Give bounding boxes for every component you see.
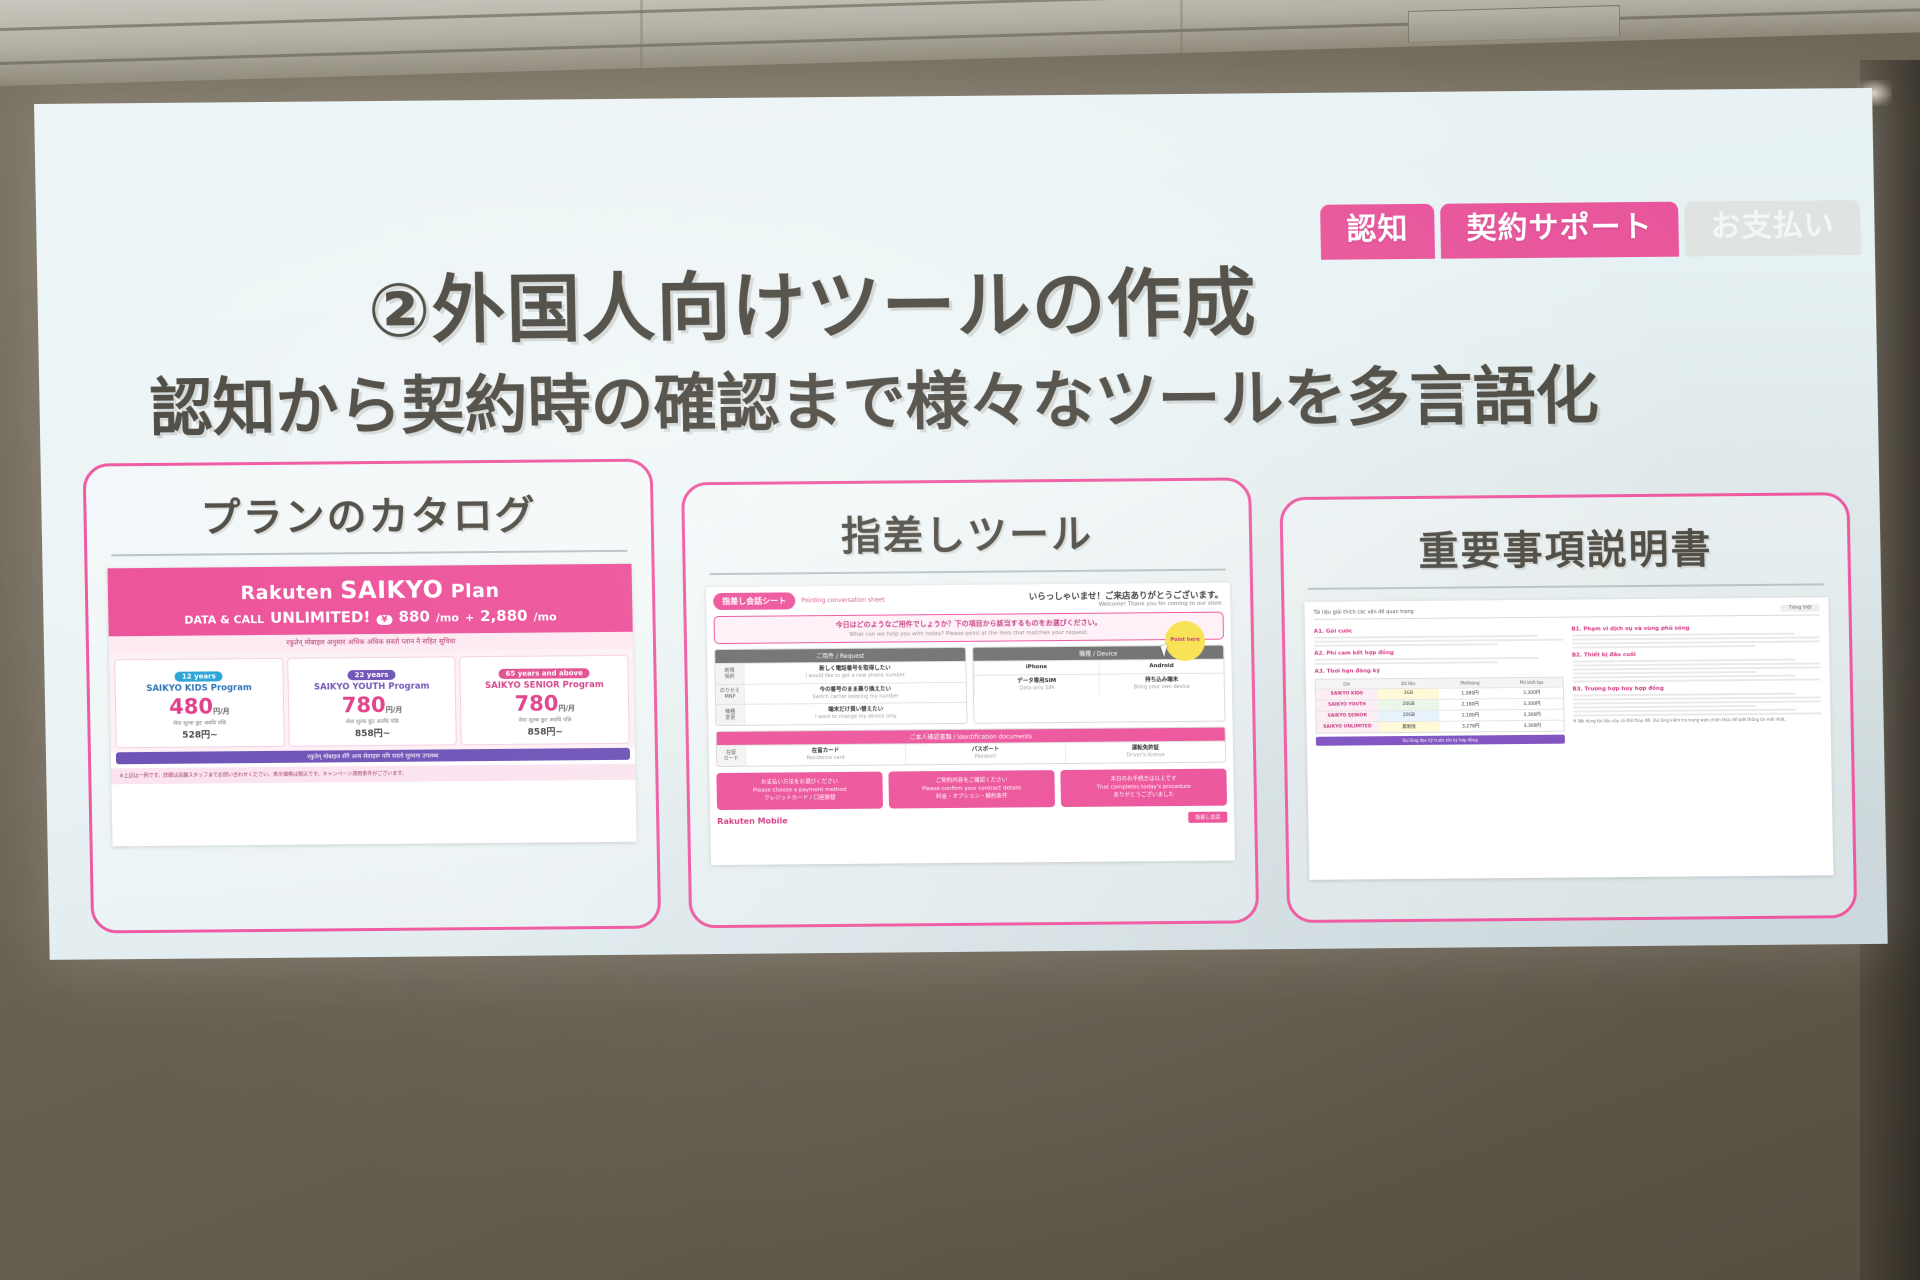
- plan-price-unit: 円/月: [386, 705, 403, 713]
- doc-text-line: [1572, 678, 1821, 682]
- doc-title: Tài liệu giải thích các vấn đề quan trọn…: [1313, 608, 1413, 615]
- brand-prefix: Rakuten: [240, 581, 333, 604]
- plan-age-badge: 22 years: [348, 670, 396, 680]
- point-here-callout: Point here: [1165, 621, 1206, 661]
- table-row[interactable]: SAIKYO YOUTH 20GB 2,180円 3,300円: [1316, 698, 1563, 711]
- row-label: 在留 カード: [717, 746, 745, 766]
- table-cell: 2,180円: [1439, 699, 1501, 710]
- rakuten-logo: Rakuten Mobile: [717, 817, 788, 827]
- table-row[interactable]: SAIKYO UNLIMITED 無制限 3,278円 3,300円: [1317, 720, 1564, 733]
- page-chip: 指差し会話: [1188, 812, 1227, 823]
- plan-strike-price: 858円~: [465, 723, 626, 737]
- price-1: 880: [398, 608, 430, 626]
- doc-section-heading: A2. Phí cam kết hợp đồng: [1314, 649, 1563, 657]
- plan-strike-price: 528円~: [119, 727, 280, 741]
- price-2-unit: /mo: [533, 610, 556, 623]
- doc-text-line: [1572, 666, 1821, 670]
- cell-translation: Passport: [910, 753, 1061, 761]
- doc-text-line: [1314, 661, 1498, 665]
- doc-section-heading: B2. Thiết bị đầu cuối: [1572, 650, 1821, 658]
- headline-main: UNLIMITED!: [270, 608, 370, 627]
- doc-column-right: B1. Phạm vi dịch vụ và vùng phủ sóng B2.…: [1571, 620, 1822, 743]
- table-cell: SAIKYO KIDS: [1316, 689, 1378, 700]
- table-cell: 2,180円: [1440, 710, 1502, 721]
- table-header-cell: Phí khởi tạo: [1501, 678, 1563, 688]
- projection-screen: 認知 契約サポート お支払い ②外国人向けツールの作成 認知から契約時の確認まで…: [34, 88, 1888, 960]
- table-cell: 3,300円: [1501, 721, 1563, 732]
- row-cell: パスポート Passport: [905, 743, 1065, 764]
- sheet-footer: Rakuten Mobile 指差し会話: [717, 812, 1227, 827]
- cell-translation: Residence card: [750, 754, 901, 762]
- cell-jp: iPhone: [978, 664, 1094, 672]
- identification-table[interactable]: ご本人確認書類 / Identification documents 在留 カー…: [716, 727, 1227, 767]
- plan-age-badge: 12 years: [175, 671, 223, 681]
- row-cell: 端末だけ買い替えたい I want to change my device on…: [744, 703, 966, 725]
- ceiling-vent: [1408, 5, 1620, 43]
- flyer-header: Rakuten SAIKYO Plan DATA & CALL UNLIMITE…: [108, 564, 633, 637]
- phase-badge-awareness[interactable]: 認知: [1320, 204, 1435, 259]
- row-cell: 運転免許証 Driver's license: [1065, 742, 1225, 763]
- doc-text-line: [1314, 643, 1498, 647]
- table-row[interactable]: iPhone Android: [973, 659, 1223, 675]
- table-cell: 無制限: [1378, 722, 1440, 733]
- table-cell: 3,300円: [1501, 699, 1563, 710]
- table-cell: 3GB: [1378, 689, 1440, 700]
- phase-badge-payment[interactable]: お支払い: [1684, 200, 1861, 256]
- doc-text-line: [1314, 639, 1563, 643]
- flyer-headline: DATA & CALL UNLIMITED! ¥ 880 /mo + 2,880…: [108, 606, 632, 629]
- slide-subtitle: 認知から契約時の確認まで様々なツールを多言語化: [149, 345, 1600, 449]
- cell-translation: Driver's license: [1070, 752, 1221, 760]
- table-row[interactable]: 在留 カード 在留カード Residence card パスポート Passpo…: [717, 741, 1225, 766]
- bottom-box[interactable]: お支払い方法をお選びください Please choose a payment m…: [716, 771, 883, 810]
- doc-section-heading: B3. Trường hợp hủy hợp đồng: [1572, 684, 1821, 692]
- row-cell: データ専用SIM Data only SIM: [974, 675, 1099, 696]
- plan-price-unit: 円/月: [213, 707, 230, 715]
- sheet-tables: ご用件 / Request 新規 契約 新しく電話番号を取得したい I woul…: [714, 645, 1225, 726]
- card-title-important-matters: 重要事項説明書: [1303, 509, 1828, 588]
- sheet-top-row: 指差し会話シート Pointing conversation sheet いらっ…: [713, 589, 1223, 611]
- tool-card-pointing-tool[interactable]: 指差しツール 指差し会話シート Pointing conversation sh…: [681, 477, 1259, 928]
- cell-translation: Switch carrier keeping my number: [749, 693, 962, 701]
- plan-age-badge: 65 years and above: [498, 668, 589, 679]
- table-cell: 1,080円: [1439, 688, 1501, 699]
- bottom-box[interactable]: 本日のお手続きは以上です That completes today's proc…: [1060, 768, 1227, 807]
- table-cell: SAIKYO UNLIMITED: [1317, 722, 1379, 733]
- sheet-tag-sub: Pointing conversation sheet: [801, 592, 885, 605]
- sheet-greeting: いらっしゃいませ！ご来店ありがとうございます。 Welcome! Thank y…: [1029, 589, 1224, 609]
- price-yen-1: ¥: [376, 615, 392, 625]
- thumbnail-important-matters[interactable]: Tài liệu giải thích các vấn đề quan trọn…: [1304, 597, 1833, 880]
- doc-section-heading: A1. Gói cước: [1314, 627, 1563, 635]
- request-table[interactable]: ご用件 / Request 新規 契約 新しく電話番号を取得したい I woul…: [714, 647, 967, 726]
- row-label: のりかえ MNP: [716, 684, 744, 704]
- table-header-cell: Phí/tháng: [1439, 678, 1501, 688]
- doc-text-line: [1573, 700, 1822, 704]
- row-cell: 持ち込み端末 Bring your own device: [1099, 674, 1224, 695]
- card-title-plan-catalog: プランのカタログ: [106, 476, 631, 555]
- table-cell: 3,300円: [1501, 710, 1563, 721]
- flyer-brand: Rakuten SAIKYO Plan: [108, 574, 633, 607]
- table-cell: 3,300円: [1501, 688, 1563, 699]
- tool-card-plan-catalog[interactable]: プランのカタログ Rakuten SAIKYO Plan DATA & CALL: [83, 459, 662, 934]
- phase-badge-contract-support[interactable]: 契約サポート: [1440, 202, 1679, 259]
- table-row[interactable]: SAIKYO SENIOR 20GB 2,180円 3,300円: [1316, 709, 1563, 722]
- row-cell: iPhone: [973, 661, 1098, 675]
- price-1-unit: /mo: [436, 611, 459, 624]
- table-row[interactable]: のりかえ MNP 今の番号のまま乗り換えたい Switch carrier ke…: [716, 682, 966, 705]
- sheet-banner: 今日はどのようなご用件でしょうか？下の項目から該当するものをお選びください。 W…: [713, 612, 1224, 644]
- brand-main: SAIKYO: [340, 575, 444, 604]
- table-row[interactable]: データ専用SIM Data only SIM 持ち込み端末 Bring your…: [974, 673, 1224, 696]
- plan-column[interactable]: 22 years SAIKYO YOUTH Program 780円/月 सेव…: [287, 656, 457, 746]
- flyer-plan-columns: 12 years SAIKYO KIDS Program 480円/月 सेवा…: [109, 649, 635, 752]
- table-cell: 3,278円: [1440, 721, 1502, 732]
- plan-column[interactable]: 65 years and above SAIKYO SENIOR Program…: [460, 655, 630, 745]
- doc-text-line: [1572, 640, 1821, 644]
- tool-card-important-matters[interactable]: 重要事項説明書 Tài liệu giải thích các vấn đề q…: [1279, 492, 1857, 923]
- tool-card-group: プランのカタログ Rakuten SAIKYO Plan DATA & CALL: [83, 448, 1858, 933]
- doc-text-line: [1572, 645, 1756, 649]
- slide-surface: 認知 契約サポート お支払い ②外国人向けツールの作成 認知から契約時の確認まで…: [34, 88, 1888, 960]
- thumbnail-plan-catalog[interactable]: Rakuten SAIKYO Plan DATA & CALL UNLIMITE…: [108, 564, 637, 847]
- cell-jp: Android: [1103, 663, 1219, 671]
- flyer-footer-note: ※上記は一例です。詳細は店舗スタッフまでお問い合わせください。表示価格は税込です…: [111, 763, 635, 784]
- doc-section-heading: B1. Phạm vi dịch vụ và vùng phủ sóng: [1571, 624, 1820, 632]
- plan-price: 780円/月: [464, 692, 625, 714]
- doc-text-line: [1573, 705, 1757, 709]
- doc-text-line: [1314, 657, 1538, 661]
- doc-section-heading: A3. Thời hạn đăng ký: [1315, 667, 1564, 675]
- plan-price-value: 780: [342, 692, 386, 716]
- row-cell: Android: [1098, 660, 1223, 674]
- brand-suffix: Plan: [450, 580, 499, 602]
- price-2: 2,880: [480, 607, 528, 625]
- doc-price-table[interactable]: Gói Dữ liệu Phí/tháng Phí khởi tạo SAIKY…: [1315, 677, 1565, 734]
- doc-language-chip: Tiếng Việt: [1781, 604, 1820, 611]
- plan-price-value: 480: [169, 694, 213, 718]
- row-cell: 在留カード Residence card: [745, 744, 905, 765]
- sheet-tag: 指差し会話シート: [713, 592, 795, 610]
- plan-price: 780円/月: [292, 694, 453, 716]
- doc-ribbon: Vui lòng đọc kỹ trước khi ký hợp đồng: [1316, 735, 1565, 746]
- screenshot-root: 認知 契約サポート お支払い ②外国人向けツールの作成 認知から契約時の確認まで…: [0, 0, 1920, 1280]
- table-row[interactable]: 機種 変更 端末だけ買い替えたい I want to change my dev…: [716, 702, 966, 725]
- cell-translation: Bring your own device: [1104, 684, 1220, 692]
- plan-price: 480円/月: [119, 695, 280, 717]
- headline-left: DATA & CALL: [184, 613, 264, 627]
- doc-column-left: A1. Gói cước A2. Phí cam kết hợp đồng A3…: [1314, 623, 1565, 746]
- ceiling-tile-edge: [1180, 0, 1183, 53]
- table-cell: 20GB: [1378, 711, 1440, 722]
- table-row[interactable]: SAIKYO KIDS 3GB 1,080円 3,300円: [1316, 687, 1563, 700]
- thumbnail-pointing-sheet[interactable]: 指差し会話シート Pointing conversation sheet いらっ…: [706, 583, 1235, 866]
- table-cell: SAIKYO SENIOR: [1316, 711, 1378, 722]
- doc-text-line: [1572, 671, 1756, 675]
- bottom-box[interactable]: ご契約内容をご確認ください Please confirm your contra…: [888, 770, 1055, 809]
- row-label: 機種 変更: [716, 705, 744, 725]
- table-cell: 20GB: [1378, 700, 1440, 711]
- plan-price-unit: 円/月: [558, 704, 575, 712]
- doc-footer-note: ※ Nội dung tài liệu này có thể thay đổi.…: [1573, 716, 1822, 724]
- ceiling-tile-edge: [640, 0, 643, 68]
- cell-translation: Data only SIM: [979, 685, 1095, 693]
- table-header-cell: Gói: [1316, 679, 1378, 689]
- plan-strike-price: 858円~: [292, 725, 453, 739]
- table-row[interactable]: 新規 契約 新しく電話番号を取得したい I would like to get …: [715, 661, 965, 684]
- cell-translation: I would like to get a new phone number: [749, 672, 962, 680]
- card-title-pointing-tool: 指差しツール: [704, 495, 1229, 574]
- table-header-cell: Dữ liệu: [1377, 679, 1439, 689]
- phase-badge-group: 認知 契約サポート お支払い: [1320, 200, 1861, 259]
- row-cell: 新しく電話番号を取得したい I would like to get a new …: [743, 662, 965, 684]
- doc-columns: A1. Gói cước A2. Phí cam kết hợp đồng A3…: [1314, 620, 1822, 745]
- sheet-bottom-boxes: お支払い方法をお選びください Please choose a payment m…: [716, 768, 1227, 810]
- table-cell: SAIKYO YOUTH: [1316, 700, 1378, 711]
- doc-header: Tài liệu giải thích các vấn đề quan trọn…: [1313, 604, 1819, 619]
- plan-price-value: 780: [514, 691, 558, 715]
- slide-title: ②外国人向けツールの作成: [367, 243, 1258, 358]
- plan-column[interactable]: 12 years SAIKYO KIDS Program 480円/月 सेवा…: [114, 658, 284, 748]
- row-label: 新規 契約: [715, 664, 743, 684]
- plus-sign: +: [465, 611, 474, 624]
- cell-translation: I want to change my device only: [749, 713, 962, 721]
- row-cell: 今の番号のまま乗り換えたい Switch carrier keeping my …: [744, 683, 966, 705]
